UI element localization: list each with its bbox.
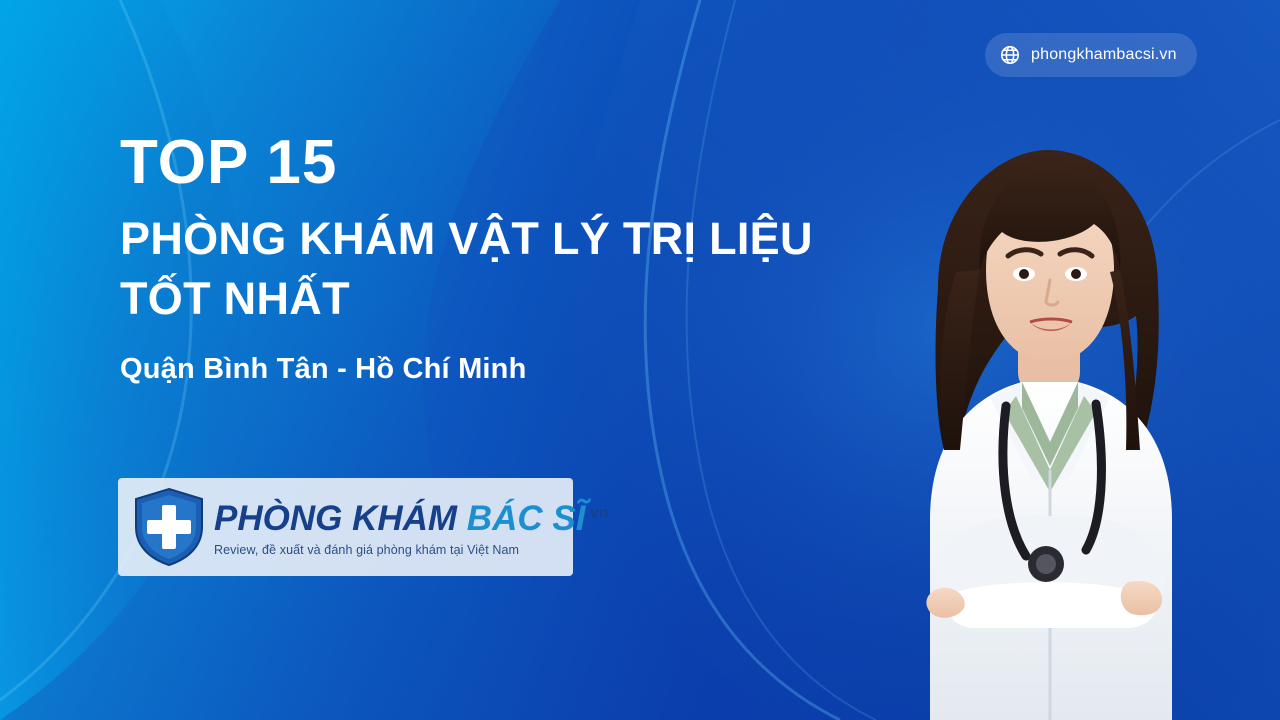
globe-icon — [999, 44, 1021, 66]
site-url-badge[interactable]: phongkhambacsi.vn — [985, 33, 1197, 77]
promo-banner: phongkhambacsi.vn TOP 15 PHÒNG KHÁM VẬT … — [0, 0, 1280, 720]
brand-domain-suffix: .vn — [585, 504, 608, 521]
site-url-label: phongkhambacsi.vn — [1031, 46, 1177, 64]
doctor-photo — [810, 120, 1280, 720]
brand-word-2: BÁC SĨ — [467, 499, 586, 538]
brand-tagline: Review, đề xuất và đánh giá phòng khám t… — [214, 543, 609, 557]
medical-shield-cross-icon — [132, 487, 206, 567]
brand-logo[interactable]: PHÒNG KHÁM BÁC SĨ.vn Review, đề xuất và … — [118, 478, 573, 576]
brand-word-1: PHÒNG KHÁM — [214, 499, 457, 538]
